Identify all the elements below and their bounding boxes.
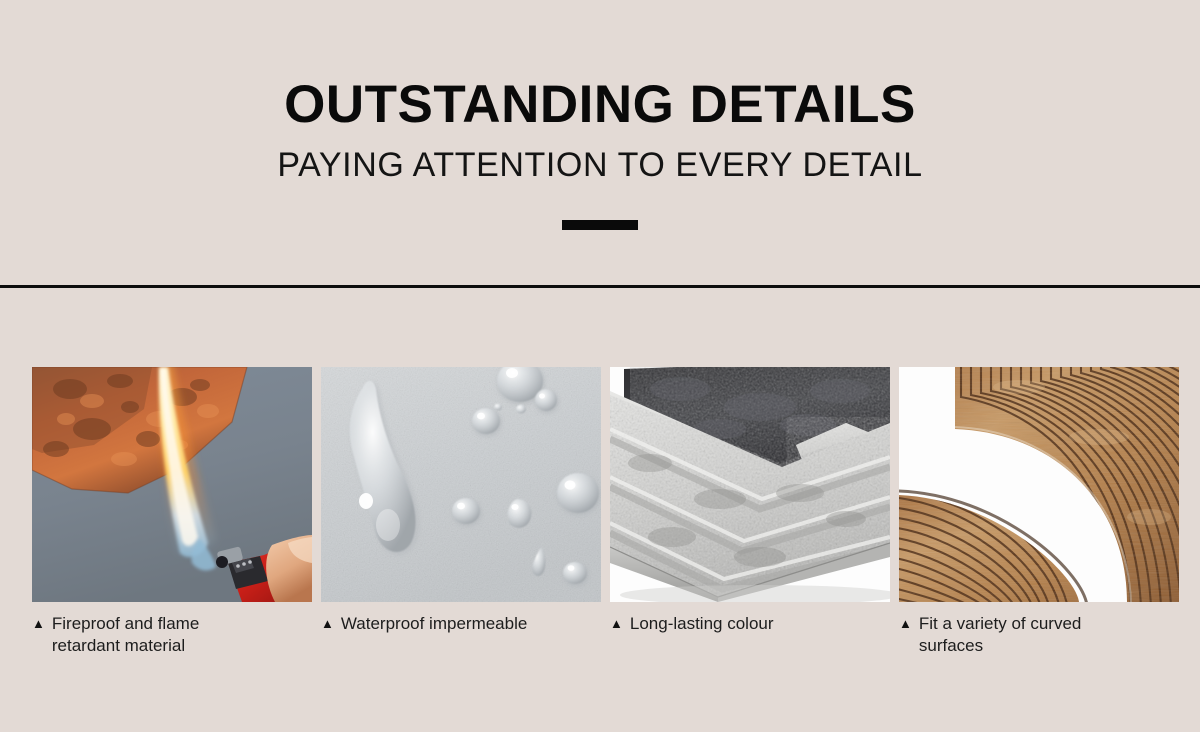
thumbnail-colour[interactable] (610, 367, 890, 602)
triangle-bullet-icon: ▲ (32, 613, 45, 634)
caption-row: ▲ Waterproof impermeable (321, 613, 601, 635)
layered-panel-image (610, 367, 890, 602)
caption-text: Long-lasting colour (630, 613, 774, 635)
curved-wood-panel-image (899, 367, 1179, 602)
caption-row: ▲ Long-lasting colour (610, 613, 890, 635)
feature-card-list: ▲ Fireproof and flame retardant material (32, 367, 1168, 657)
caption-row: ▲ Fit a variety of curved surfaces (899, 613, 1179, 657)
feature-card: ▲ Waterproof impermeable (321, 367, 601, 657)
caption-text: Waterproof impermeable (341, 613, 527, 635)
page-subtitle: PAYING ATTENTION TO EVERY DETAIL (0, 148, 1200, 184)
caption-text: Fit a variety of curved surfaces (919, 613, 1119, 657)
feature-card: ▲ Long-lasting colour (610, 367, 890, 657)
page-header: OUTSTANDING DETAILS PAYING ATTENTION TO … (0, 0, 1200, 230)
feature-card: ▲ Fit a variety of curved surfaces (899, 367, 1179, 657)
section-divider (0, 285, 1200, 288)
water-droplet-image (321, 367, 601, 602)
caption-text: Fireproof and flame retardant material (52, 613, 242, 657)
feature-card: ▲ Fireproof and flame retardant material (32, 367, 312, 657)
thumbnail-waterproof[interactable] (321, 367, 601, 602)
thumbnail-curved[interactable] (899, 367, 1179, 602)
triangle-bullet-icon: ▲ (321, 613, 334, 634)
page-title: OUTSTANDING DETAILS (0, 78, 1200, 132)
thumbnail-fireproof[interactable] (32, 367, 312, 602)
flame-test-image (32, 367, 312, 602)
triangle-bullet-icon: ▲ (610, 613, 623, 634)
triangle-bullet-icon: ▲ (899, 613, 912, 634)
accent-bar (562, 220, 638, 230)
caption-row: ▲ Fireproof and flame retardant material (32, 613, 312, 657)
